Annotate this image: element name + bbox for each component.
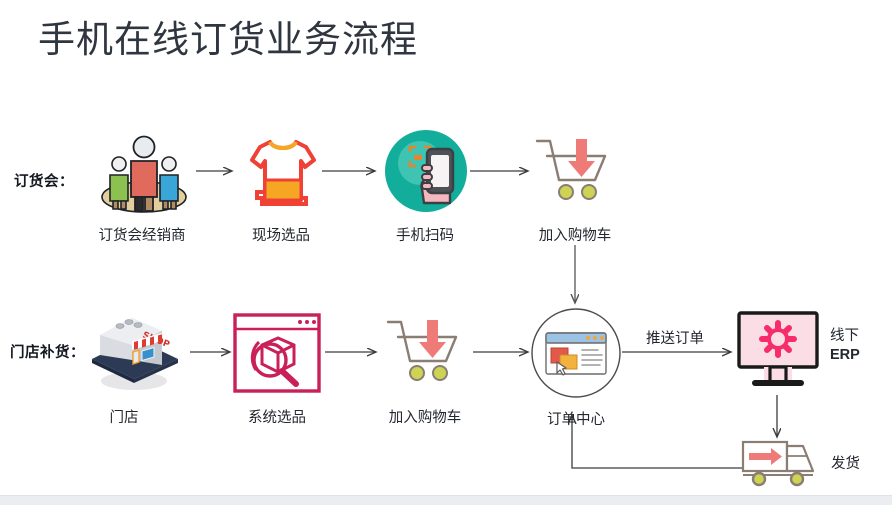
caption-cart-top: 加入购物车 [539,224,612,245]
label-offline-erp: 线下 ERP [830,327,860,365]
label-shipping-text: 发货 [831,456,860,472]
shopping-cart-icon [534,134,616,206]
slide-canvas: 手机在线订货业务流程 订货会： 门店补货： [0,0,892,505]
caption-order-center: 订单中心 [547,408,605,429]
edge-label-push-order: 推送订单 [646,327,704,348]
order-window-icon [530,307,622,399]
label-offline-erp-en: ERP [830,346,860,365]
delivery-truck-icon [740,438,822,488]
slide-bottom-band [0,495,892,505]
browser-search-box-icon [232,312,322,394]
monitor-gear-icon [734,310,822,394]
caption-onsite-select: 现场选品 [252,224,310,245]
label-offline-erp-cn: 线下 [830,327,860,346]
phone-scan-icon [384,129,468,213]
shopping-cart-icon [385,315,467,387]
shop-building-icon: SHOP [82,307,186,393]
caption-cart-bottom: 加入购物车 [389,406,462,427]
caption-store: 门店 [110,406,139,427]
tshirt-icon [244,134,322,212]
row-label-order-meeting: 订货会： [14,170,74,191]
row-label-store-replenish: 门店补货： [10,341,85,362]
people-group-icon [96,131,192,215]
caption-dealer: 订货会经销商 [99,224,186,245]
caption-system-select: 系统选品 [248,406,306,427]
caption-phone-scan: 手机扫码 [396,224,454,245]
connector-arrows [0,0,892,505]
page-title: 手机在线订货业务流程 [38,16,418,64]
label-shipping: 发货 [831,455,860,474]
